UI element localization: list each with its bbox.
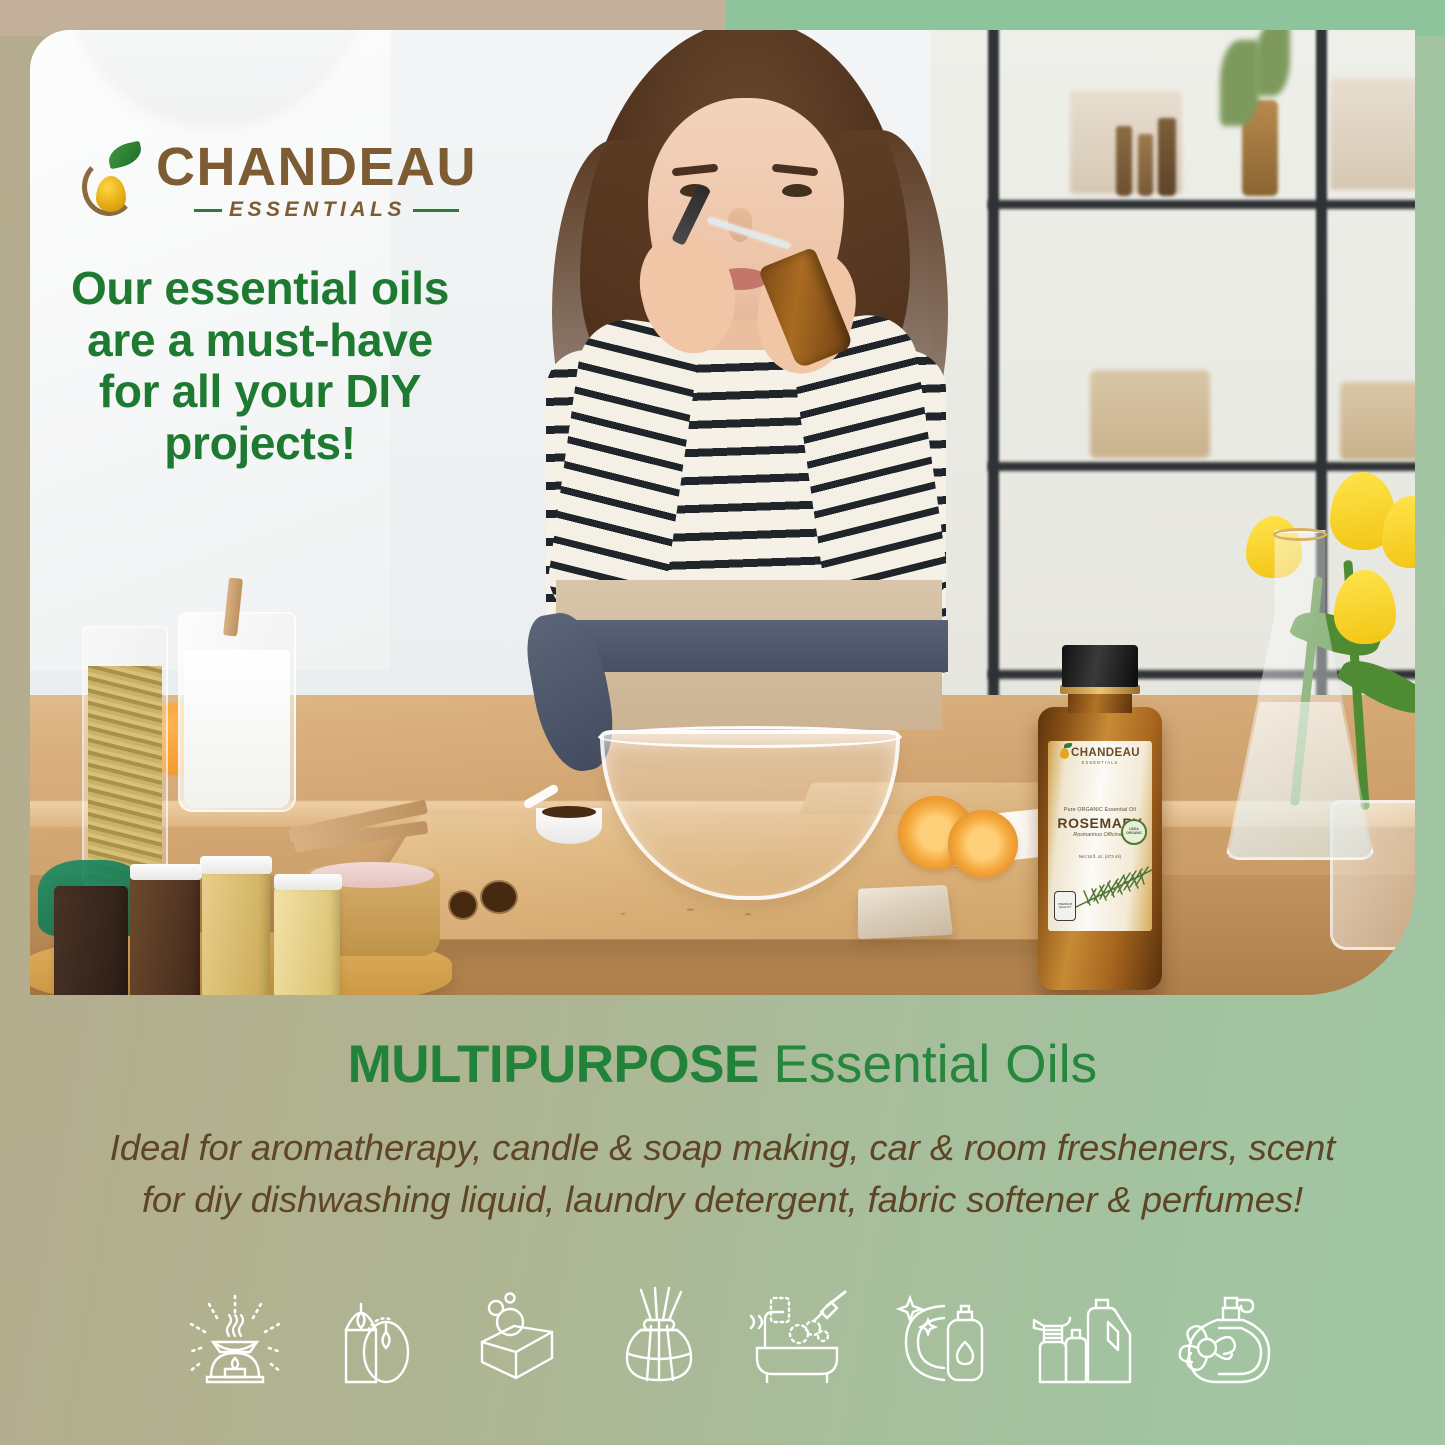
soap-bar-icon	[458, 1274, 578, 1402]
use-case-icon-row	[175, 1272, 1285, 1404]
product-label-pure-line: Pure ORGANIC Essential Oil	[1064, 807, 1136, 813]
tagline-light: Essential Oils	[774, 1035, 1098, 1094]
product-label: CHANDEAU ESSENTIALS Pure ORGANIC Essenti…	[1048, 741, 1152, 931]
brand-name: CHANDEAU	[156, 140, 477, 194]
brand-tagline: ESSENTIALS	[229, 198, 406, 222]
brand-logo: CHANDEAU ESSENTIALS	[78, 140, 477, 222]
photo-spice-bowl-contents	[542, 806, 596, 818]
logo-rule-left	[194, 209, 222, 212]
rosemary-sprig-icon	[1070, 859, 1152, 915]
product-label-brand: CHANDEAU	[1071, 747, 1140, 759]
photo-glass-bowl-rim	[598, 726, 902, 748]
perfume-flower-icon	[1165, 1274, 1285, 1402]
usda-organic-seal-icon: USDA ORGANIC	[1121, 819, 1147, 845]
tagline-strong: MULTIPURPOSE	[348, 1035, 759, 1094]
bath-dropper-icon	[741, 1274, 861, 1402]
dish-soap-icon	[882, 1274, 1002, 1402]
headline-text: Our essential oils are a must-have for a…	[60, 263, 460, 469]
description-text: Ideal for aromatherapy, candle & soap ma…	[40, 1122, 1405, 1226]
candle-icon	[316, 1274, 436, 1402]
photo-spice-jar	[202, 870, 270, 995]
oil-drop-leaf-icon	[1060, 748, 1069, 759]
photo-candle-wax	[184, 650, 290, 808]
logo-rule-right	[413, 209, 459, 212]
section-tagline: MULTIPURPOSE Essential Oils	[0, 1036, 1445, 1094]
photo-spice-jar	[130, 876, 200, 995]
product-label-logo: CHANDEAU	[1060, 747, 1140, 759]
product-bottle-neck	[1068, 691, 1132, 713]
photo-orange-slice	[948, 810, 1018, 878]
quality-badge-icon: PREMIUM QUALITY	[1054, 891, 1076, 921]
spray-detergent-icon	[1024, 1274, 1144, 1402]
product-label-latin-name: Rosmarinus Officinalis	[1073, 832, 1127, 838]
oil-burner-icon	[175, 1274, 295, 1402]
photo-carafe-gold-rim	[1273, 528, 1327, 541]
oil-drop-leaf-icon	[78, 142, 144, 220]
product-label-brand-sub: ESSENTIALS	[1082, 760, 1119, 765]
product-bottle: CHANDEAU ESSENTIALS Pure ORGANIC Essenti…	[1030, 645, 1170, 990]
description-line-1: Ideal for aromatherapy, candle & soap ma…	[110, 1127, 1335, 1168]
photo-herb-tube-contents	[88, 666, 162, 882]
description-line-2: for diy dishwashing liquid, laundry dete…	[142, 1179, 1303, 1220]
photo-person	[460, 30, 1020, 720]
product-bottle-cap	[1062, 645, 1138, 687]
reed-diffuser-icon	[599, 1274, 719, 1402]
photo-soap-bar	[858, 885, 953, 939]
photo-spice-jar	[54, 886, 128, 995]
photo-spice-jar	[274, 886, 340, 995]
